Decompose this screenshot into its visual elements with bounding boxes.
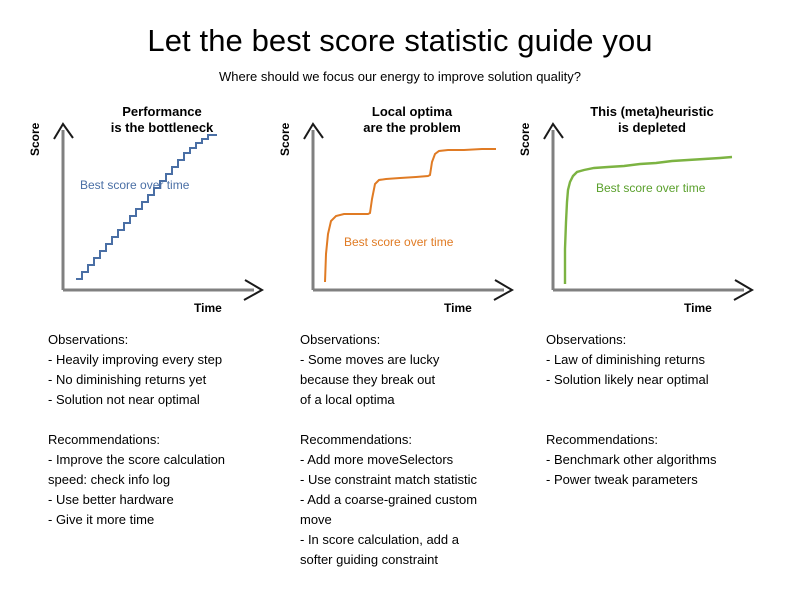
- series-line-best-score: [76, 135, 217, 279]
- recommendations-block: Recommendations: - Add more moveSelector…: [300, 430, 530, 570]
- recommendation-item: softer guiding constraint: [300, 550, 530, 570]
- recommendations-block: Recommendations: - Improve the score cal…: [48, 430, 288, 530]
- block-spacer: [300, 410, 530, 430]
- advice-columns: Observations: - Heavily improving every …: [0, 330, 800, 600]
- observation-item: - Some moves are lucky: [300, 350, 530, 370]
- block-spacer: [546, 390, 786, 410]
- observations-block: Observations: - Heavily improving every …: [48, 330, 288, 410]
- observations-block: Observations: - Some moves are lucky bec…: [300, 330, 530, 410]
- x-axis-label: Time: [444, 301, 472, 315]
- observations-heading: Observations:: [48, 330, 288, 350]
- observation-item: because they break out: [300, 370, 530, 390]
- chart-panel-local-optima: Local optima are the problem Score Best …: [282, 104, 542, 324]
- recommendation-item: - Use constraint match statistic: [300, 470, 530, 490]
- page-subtitle: Where should we focus our energy to impr…: [0, 68, 800, 85]
- recommendations-block: Recommendations: - Benchmark other algor…: [546, 430, 786, 490]
- recommendations-heading: Recommendations:: [546, 430, 786, 450]
- recommendation-item: speed: check info log: [48, 470, 288, 490]
- page-title: Let the best score statistic guide you: [0, 22, 800, 60]
- recommendation-item: - Add a coarse-grained custom: [300, 490, 530, 510]
- recommendations-heading: Recommendations:: [300, 430, 530, 450]
- plot-area-depleted: [522, 104, 782, 324]
- recommendation-item: - Power tweak parameters: [546, 470, 786, 490]
- chart-panels-row: Performance is the bottleneck Score Best…: [0, 104, 800, 324]
- advice-column-depleted: Observations: - Law of diminishing retur…: [546, 330, 786, 490]
- observation-item: of a local optima: [300, 390, 530, 410]
- recommendation-item: - In score calculation, add a: [300, 530, 530, 550]
- block-spacer: [546, 410, 786, 430]
- observation-item: - No diminishing returns yet: [48, 370, 288, 390]
- recommendation-item: - Give it more time: [48, 510, 288, 530]
- observation-item: - Solution not near optimal: [48, 390, 288, 410]
- chart-panel-depleted: This (meta)heuristic is depleted Score B…: [522, 104, 782, 324]
- header: Let the best score statistic guide you W…: [0, 0, 800, 85]
- legend-best-score: Best score over time: [344, 235, 453, 249]
- observations-heading: Observations:: [546, 330, 786, 350]
- recommendation-item: - Add more moveSelectors: [300, 450, 530, 470]
- advice-column-performance: Observations: - Heavily improving every …: [48, 330, 288, 530]
- recommendation-item: - Use better hardware: [48, 490, 288, 510]
- recommendation-item: - Improve the score calculation: [48, 450, 288, 470]
- series-line-best-score: [325, 149, 496, 282]
- observations-heading: Observations:: [300, 330, 530, 350]
- legend-best-score: Best score over time: [596, 181, 705, 195]
- plot-area-performance: [32, 104, 292, 324]
- recommendations-heading: Recommendations:: [48, 430, 288, 450]
- plot-area-local-optima: [282, 104, 542, 324]
- observation-item: - Heavily improving every step: [48, 350, 288, 370]
- chart-panel-performance: Performance is the bottleneck Score Best…: [32, 104, 292, 324]
- observation-item: - Solution likely near optimal: [546, 370, 786, 390]
- block-spacer: [48, 410, 288, 430]
- observations-block: Observations: - Law of diminishing retur…: [546, 330, 786, 390]
- observation-item: - Law of diminishing returns: [546, 350, 786, 370]
- recommendation-item: - Benchmark other algorithms: [546, 450, 786, 470]
- advice-column-local-optima: Observations: - Some moves are lucky bec…: [300, 330, 530, 570]
- x-axis-label: Time: [194, 301, 222, 315]
- legend-best-score: Best score over time: [80, 178, 189, 192]
- series-line-best-score: [565, 157, 732, 284]
- x-axis-label: Time: [684, 301, 712, 315]
- recommendation-item: move: [300, 510, 530, 530]
